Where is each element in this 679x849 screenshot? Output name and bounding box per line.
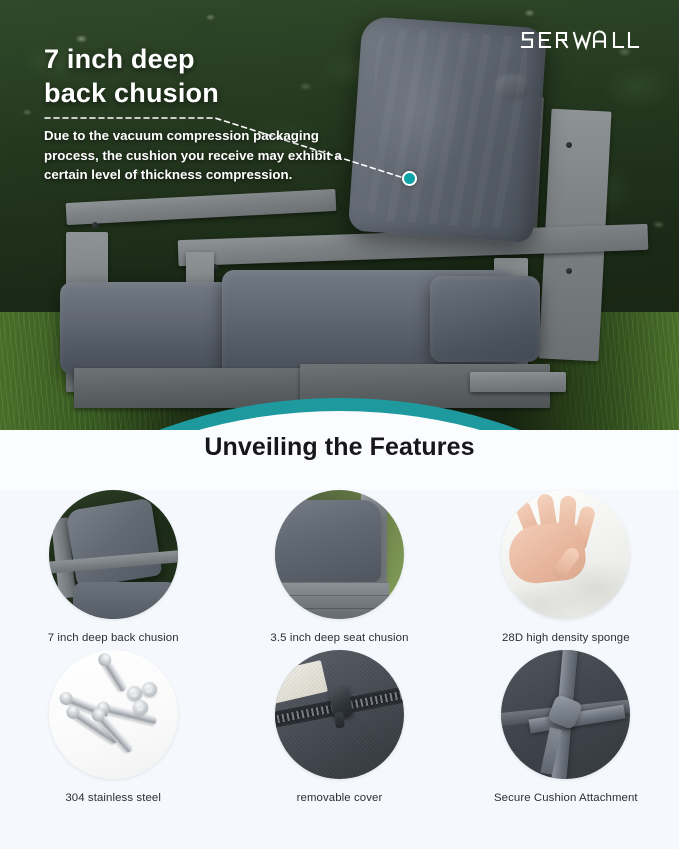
hero-title: 7 inch deep back chusion: [44, 42, 344, 111]
removable-cover-zipper-thumbnail[interactable]: [275, 650, 404, 779]
cushion-attachment-strap-thumbnail[interactable]: [501, 650, 630, 779]
hero-title-line-1: 7 inch deep: [44, 42, 344, 76]
feature-caption: 28D high density sponge: [502, 632, 630, 644]
callout-dot: [402, 171, 417, 186]
feature-item[interactable]: 7 inch deep back chusion: [0, 490, 226, 644]
feature-item[interactable]: 3.5 inch deep seat chusion: [226, 490, 452, 644]
feature-item[interactable]: removable cover: [226, 650, 452, 804]
feature-item[interactable]: 304 stainless steel: [0, 650, 226, 804]
hero-banner: 7 inch deep back chusion Due to the vacu…: [0, 0, 679, 432]
feature-caption: 3.5 inch deep seat chusion: [270, 632, 408, 644]
feature-caption: removable cover: [297, 792, 383, 804]
brand-logo: [519, 28, 645, 54]
high-density-sponge-thumbnail[interactable]: [501, 490, 630, 619]
back-cushion-thumbnail[interactable]: [49, 490, 178, 619]
feature-caption: 304 stainless steel: [65, 792, 161, 804]
features-section-title: Unveiling the Features: [0, 433, 679, 462]
feature-caption: 7 inch deep back chusion: [48, 632, 179, 644]
serwall-wordmark-icon: [519, 28, 645, 54]
seat-cushion-thumbnail[interactable]: [275, 490, 404, 619]
hero-title-line-2: back chusion: [44, 76, 344, 110]
stainless-steel-hardware-thumbnail[interactable]: [49, 650, 178, 779]
features-section: Unveiling the Features 7 inch deep back …: [0, 432, 679, 849]
feature-item[interactable]: Secure Cushion Attachment: [453, 650, 679, 804]
features-grid: 7 inch deep back chusion 3.5 inch deep s…: [0, 490, 679, 804]
hero-description: Due to the vacuum compression packaging …: [44, 126, 344, 185]
feature-item[interactable]: 28D high density sponge: [453, 490, 679, 644]
feature-caption: Secure Cushion Attachment: [494, 792, 638, 804]
